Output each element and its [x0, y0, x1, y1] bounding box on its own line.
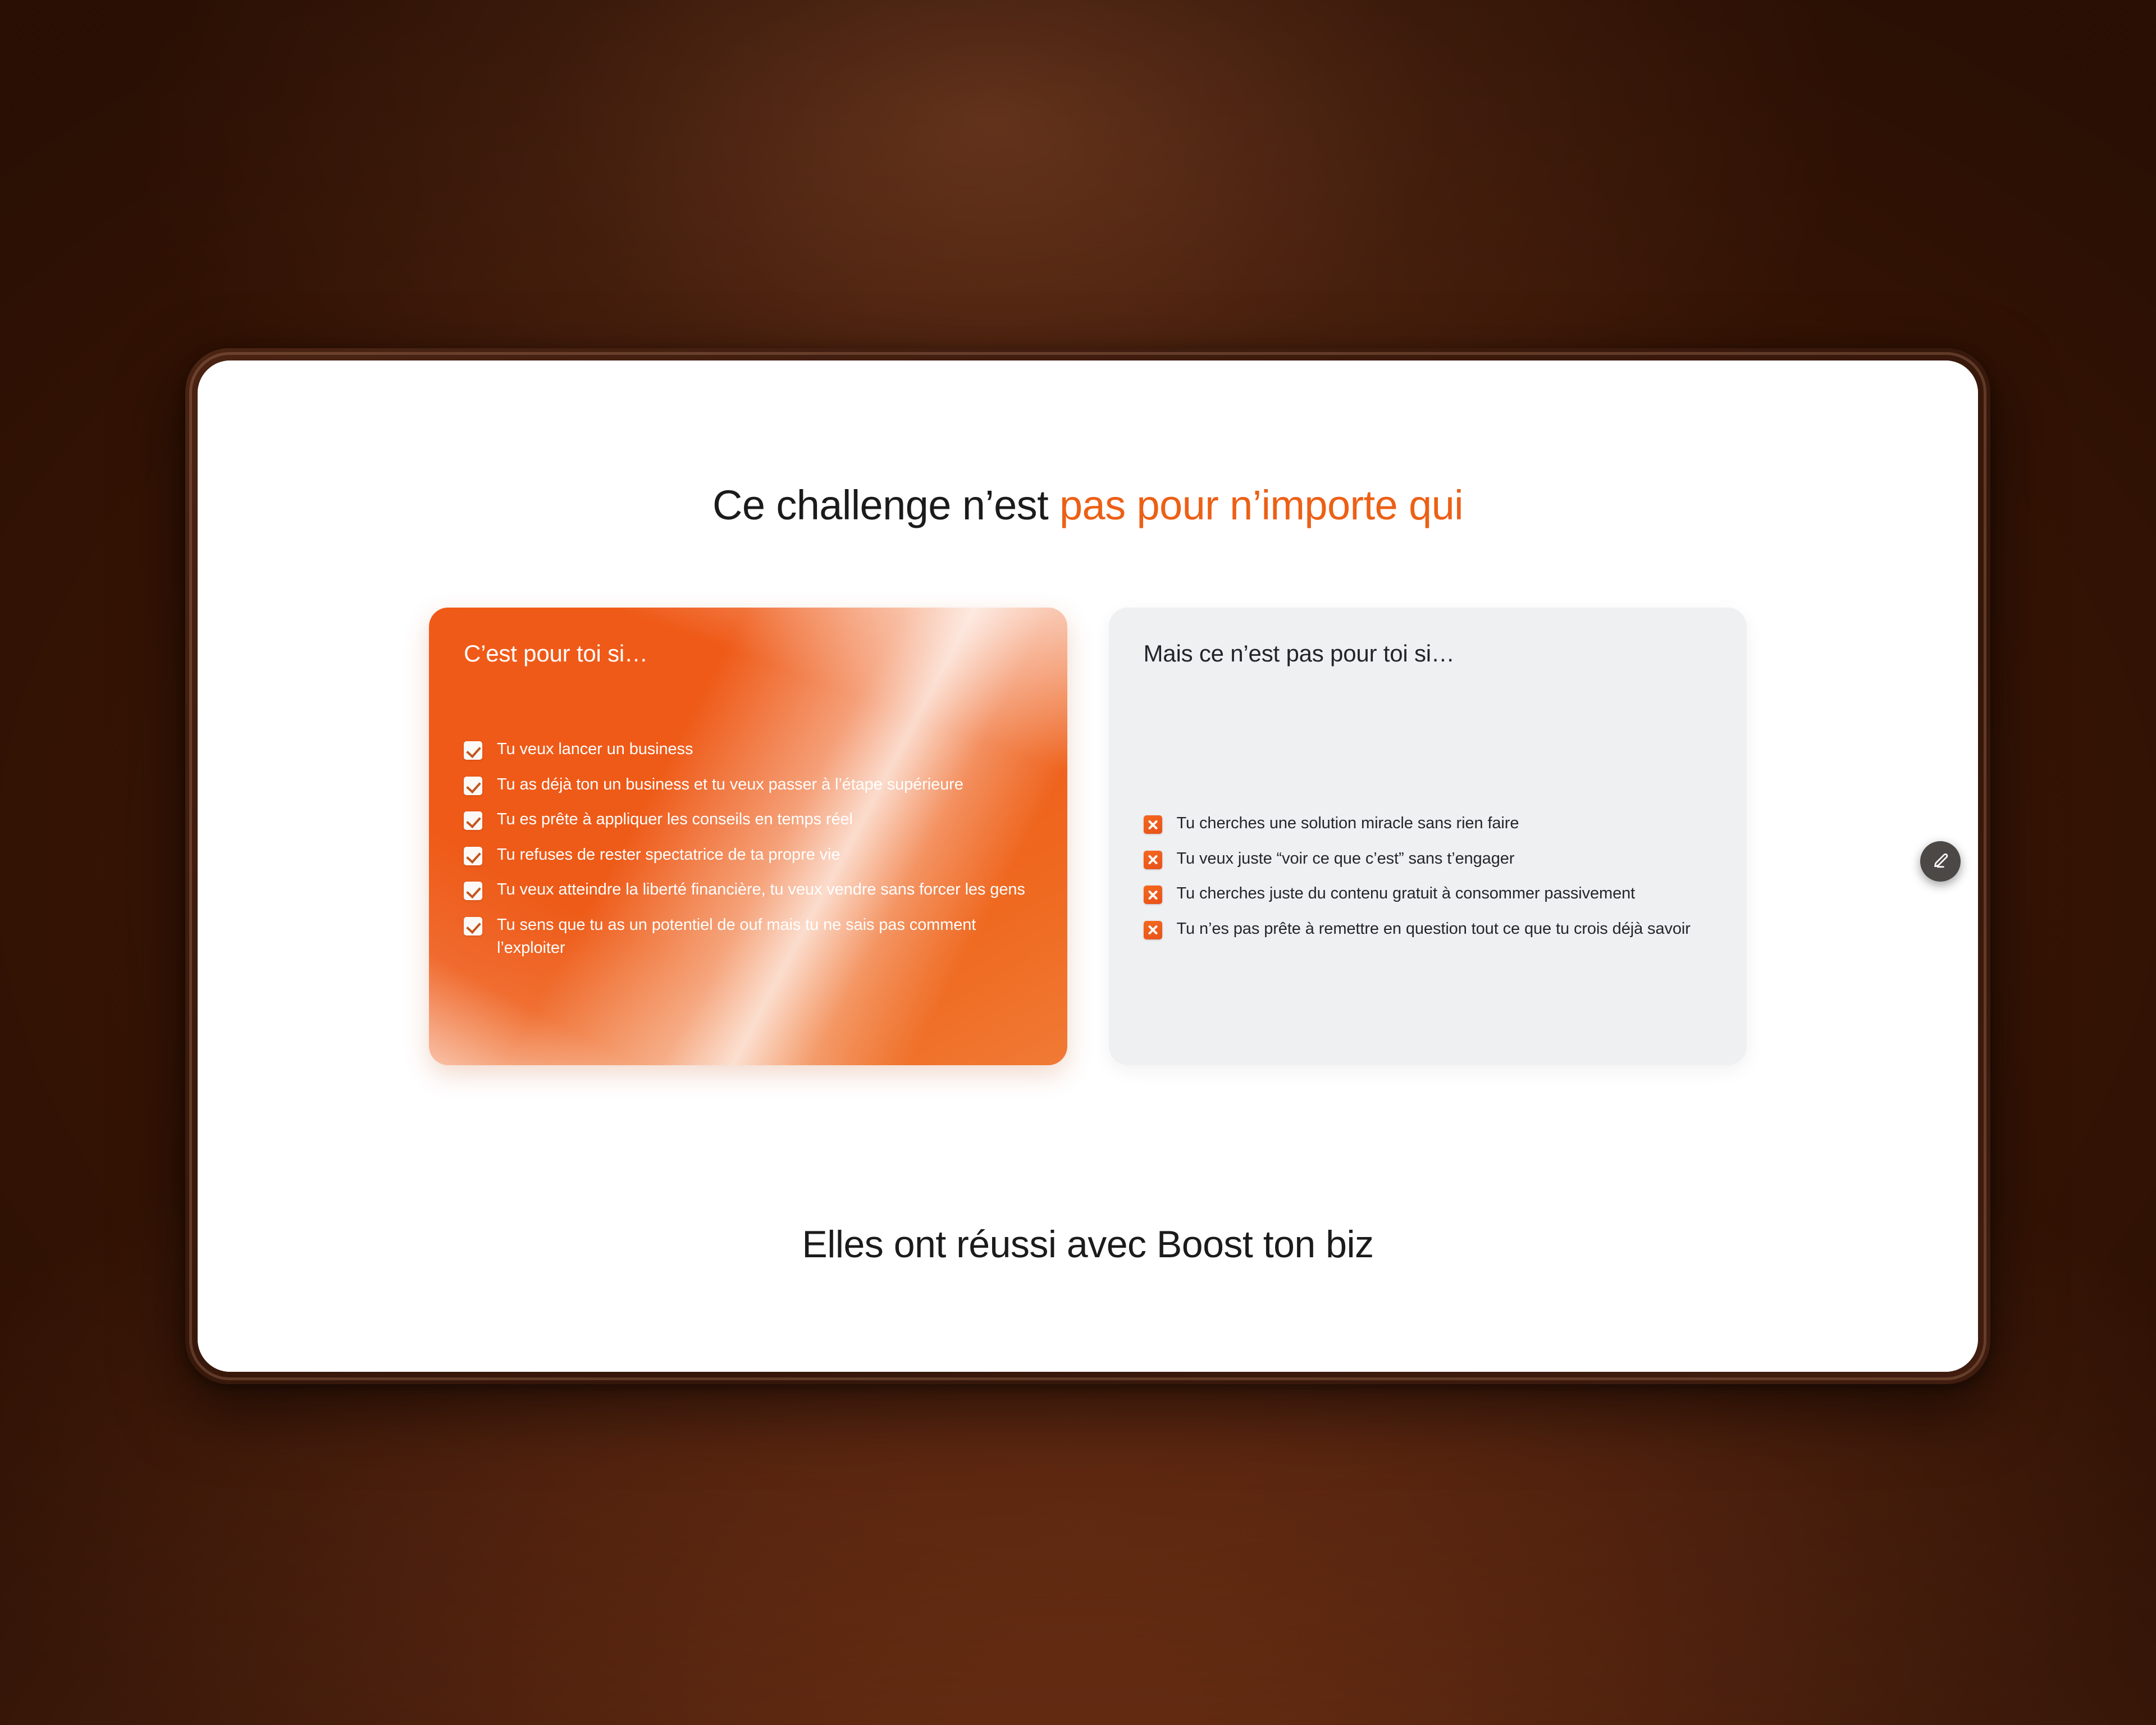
checkbox-checked-icon — [464, 847, 482, 865]
checkbox-checked-icon — [464, 811, 482, 830]
list-item-label: Tu cherches une solution miracle sans ri… — [1177, 812, 1519, 835]
list-item-label: Tu veux lancer un business — [497, 738, 693, 761]
checkbox-checked-icon — [464, 741, 482, 760]
tablet-screen: Ce challenge n’est pas pour n’importe qu… — [198, 360, 1978, 1372]
list-item: Tu as déjà ton un business et tu veux pa… — [464, 773, 1033, 796]
cross-box-icon — [1144, 815, 1162, 834]
card-fit-yes-list: Tu veux lancer un business Tu as déjà to… — [464, 738, 1033, 959]
list-item: Tu veux juste “voir ce que c’est” sans t… — [1144, 847, 1712, 870]
cross-box-icon — [1144, 851, 1162, 869]
card-fit-no[interactable]: Mais ce n’est pas pour toi si… Tu cherch… — [1109, 608, 1747, 1065]
list-item-label: Tu refuses de rester spectatrice de ta p… — [497, 843, 840, 866]
list-item: Tu es prête à appliquer les conseils en … — [464, 808, 1033, 831]
slide-footer-heading: Elles ont réussi avec Boost ton biz — [198, 1222, 1978, 1266]
presentation-slide[interactable]: Ce challenge n’est pas pour n’importe qu… — [198, 360, 1978, 1372]
pencil-edit-icon — [1931, 852, 1950, 871]
checkbox-checked-icon — [464, 917, 482, 935]
tablet-device-frame: Ce challenge n’est pas pour n’importe qu… — [185, 348, 1990, 1384]
list-item-label: Tu veux juste “voir ce que c’est” sans t… — [1177, 847, 1515, 870]
list-item: Tu n’es pas prête à remettre en question… — [1144, 918, 1712, 941]
checkbox-checked-icon — [464, 882, 482, 900]
page-title: Ce challenge n’est pas pour n’importe qu… — [198, 481, 1978, 529]
page-title-plain: Ce challenge n’est — [712, 482, 1059, 528]
list-item: Tu cherches une solution miracle sans ri… — [1144, 812, 1712, 835]
list-item-label: Tu veux atteindre la liberté financière,… — [497, 878, 1025, 901]
list-item-label: Tu n’es pas prête à remettre en question… — [1177, 918, 1691, 941]
cross-box-icon — [1144, 886, 1162, 904]
edit-floating-button[interactable] — [1920, 841, 1961, 882]
cross-box-icon — [1144, 921, 1162, 939]
list-item: Tu veux lancer un business — [464, 738, 1033, 761]
list-item-label: Tu as déjà ton un business et tu veux pa… — [497, 773, 963, 796]
list-item-label: Tu cherches juste du contenu gratuit à c… — [1177, 882, 1636, 905]
list-item: Tu cherches juste du contenu gratuit à c… — [1144, 882, 1712, 905]
card-fit-yes-heading: C’est pour toi si… — [464, 640, 1033, 667]
list-item: Tu sens que tu as un potentiel de ouf ma… — [464, 914, 1033, 959]
card-fit-no-list: Tu cherches une solution miracle sans ri… — [1144, 812, 1712, 940]
list-item-label: Tu sens que tu as un potentiel de ouf ma… — [497, 914, 1033, 959]
list-item-label: Tu es prête à appliquer les conseils en … — [497, 808, 853, 831]
card-fit-yes[interactable]: C’est pour toi si… Tu veux lancer un bus… — [429, 608, 1067, 1065]
comparison-cards: C’est pour toi si… Tu veux lancer un bus… — [429, 608, 1747, 1065]
card-fit-no-heading: Mais ce n’est pas pour toi si… — [1144, 640, 1712, 667]
list-item: Tu veux atteindre la liberté financière,… — [464, 878, 1033, 901]
list-item: Tu refuses de rester spectatrice de ta p… — [464, 843, 1033, 866]
checkbox-checked-icon — [464, 777, 482, 795]
page-title-accent: pas pour n’importe qui — [1059, 482, 1463, 528]
